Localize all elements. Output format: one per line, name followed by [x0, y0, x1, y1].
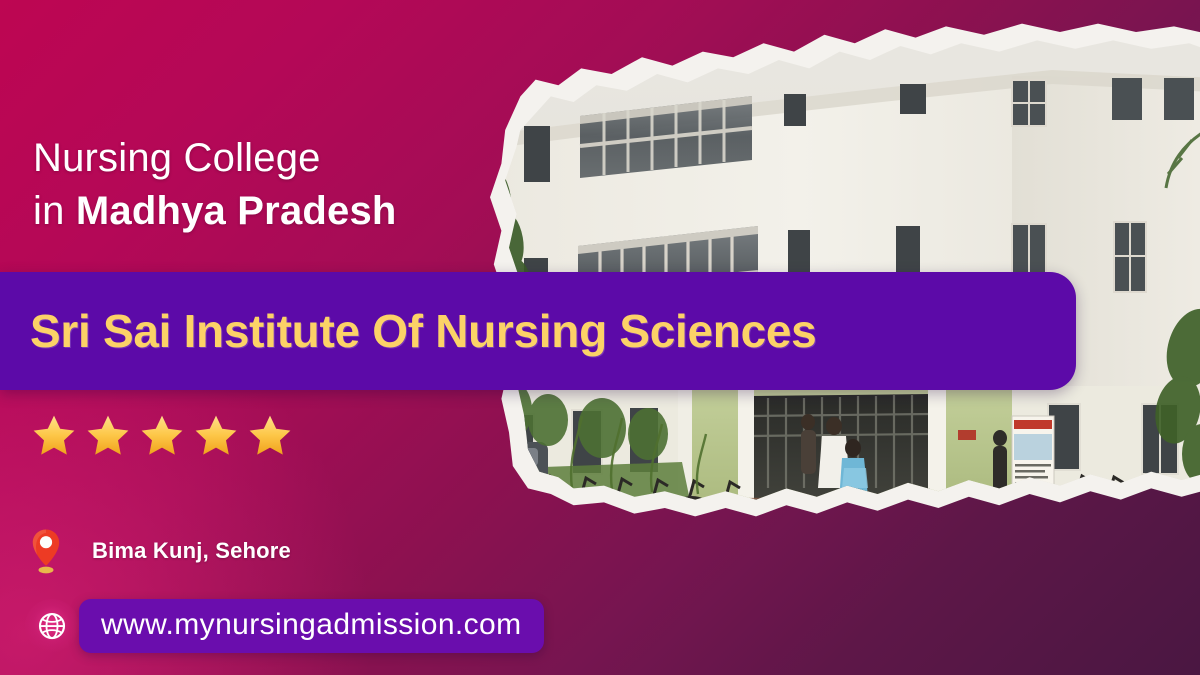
poster-canvas: SRI SAI INSTITUTE OF NURSING SCIENCE [0, 0, 1200, 675]
star-icon [192, 412, 240, 460]
website-row[interactable]: www.mynursingadmission.com [25, 598, 544, 654]
headline-state: Madhya Pradesh [76, 189, 397, 233]
website-pill[interactable]: www.mynursingadmission.com [79, 599, 544, 653]
globe-badge [25, 599, 79, 653]
institute-name-banner: Sri Sai Institute Of Nursing Sciences [0, 272, 1076, 390]
rating-stars [30, 412, 294, 460]
star-icon [84, 412, 132, 460]
location-text: Bima Kunj, Sehore [92, 538, 291, 564]
page-title: Nursing College in Madhya Pradesh [33, 132, 397, 238]
star-icon [30, 412, 78, 460]
location-row: Bima Kunj, Sehore [30, 524, 291, 578]
globe-icon [37, 611, 67, 641]
website-url: www.mynursingadmission.com [101, 608, 522, 641]
institute-name: Sri Sai Institute Of Nursing Sciences [0, 304, 816, 358]
headline-prefix: in [33, 189, 76, 233]
star-icon [246, 412, 294, 460]
headline-line-2: in Madhya Pradesh [33, 185, 397, 238]
star-icon [138, 412, 186, 460]
headline-line-1: Nursing College [33, 132, 397, 185]
map-pin-icon [30, 528, 62, 574]
